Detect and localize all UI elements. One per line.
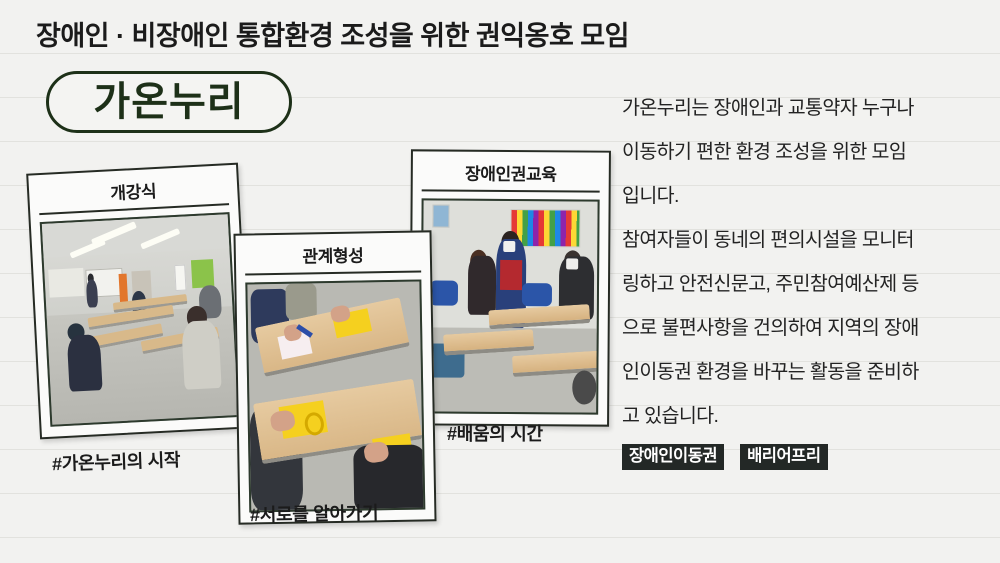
page-title: 장애인 · 비장애인 통합환경 조성을 위한 권익옹호 모임 <box>36 14 629 53</box>
description-line: 참여자들이 동네의 편의시설을 모니터 <box>622 218 994 262</box>
photo-card-title: 장애인권교육 <box>422 159 600 192</box>
description-line: 링하고 안전신문고, 주민참여예산제 등 <box>622 262 994 306</box>
description-line: 인이동권 환경을 바꾸는 활동을 준비하 <box>622 350 994 394</box>
photo-opening-ceremony <box>40 212 240 427</box>
photo-card-title: 관계형성 <box>245 240 422 275</box>
education-session-scene <box>422 200 597 412</box>
poster-page: 장애인 · 비장애인 통합환경 조성을 위한 권익옹호 모임 가온누리 개강식 <box>0 0 1000 563</box>
desk-activity-scene <box>247 282 423 511</box>
photo-card-opening-ceremony: 개강식 <box>26 163 252 440</box>
description-block: 가온누리는 장애인과 교통약자 누구나 이동하기 편한 환경 조성을 위한 모임… <box>622 86 994 438</box>
photo-card-relationship-building: 관계형성 <box>233 230 436 524</box>
photo-hashtag-opening-ceremony: #가온누리의 시작 <box>52 446 181 476</box>
description-line: 고 있습니다. <box>622 394 994 438</box>
photo-hashtag-disability-rights-education: #배움의 시간 <box>447 420 543 446</box>
photo-card-disability-rights-education: 장애인권교육 <box>409 149 611 426</box>
description-line: 으로 불편사항을 건의하여 지역의 장애 <box>622 306 994 350</box>
tag-badge-mobility-rights: 장애인이동권 <box>622 444 724 470</box>
organization-logo-badge: 가온누리 <box>46 71 292 133</box>
photo-relationship-building <box>245 279 425 512</box>
photo-hashtag-relationship-building: #서로를 알아가기 <box>250 499 379 527</box>
description-line: 가온누리는 장애인과 교통약자 누구나 <box>622 86 994 130</box>
organization-logo-text: 가온누리 <box>93 82 244 122</box>
tag-badge-barrier-free: 배리어프리 <box>740 444 827 470</box>
classroom-scene <box>42 214 238 424</box>
description-line: 이동하기 편한 환경 조성을 위한 모임 <box>622 130 994 174</box>
photo-card-title: 개강식 <box>38 173 229 215</box>
description-line: 입니다. <box>622 174 994 218</box>
photo-disability-rights-education <box>420 198 599 414</box>
tag-list: 장애인이동권 배리어프리 <box>622 444 828 470</box>
